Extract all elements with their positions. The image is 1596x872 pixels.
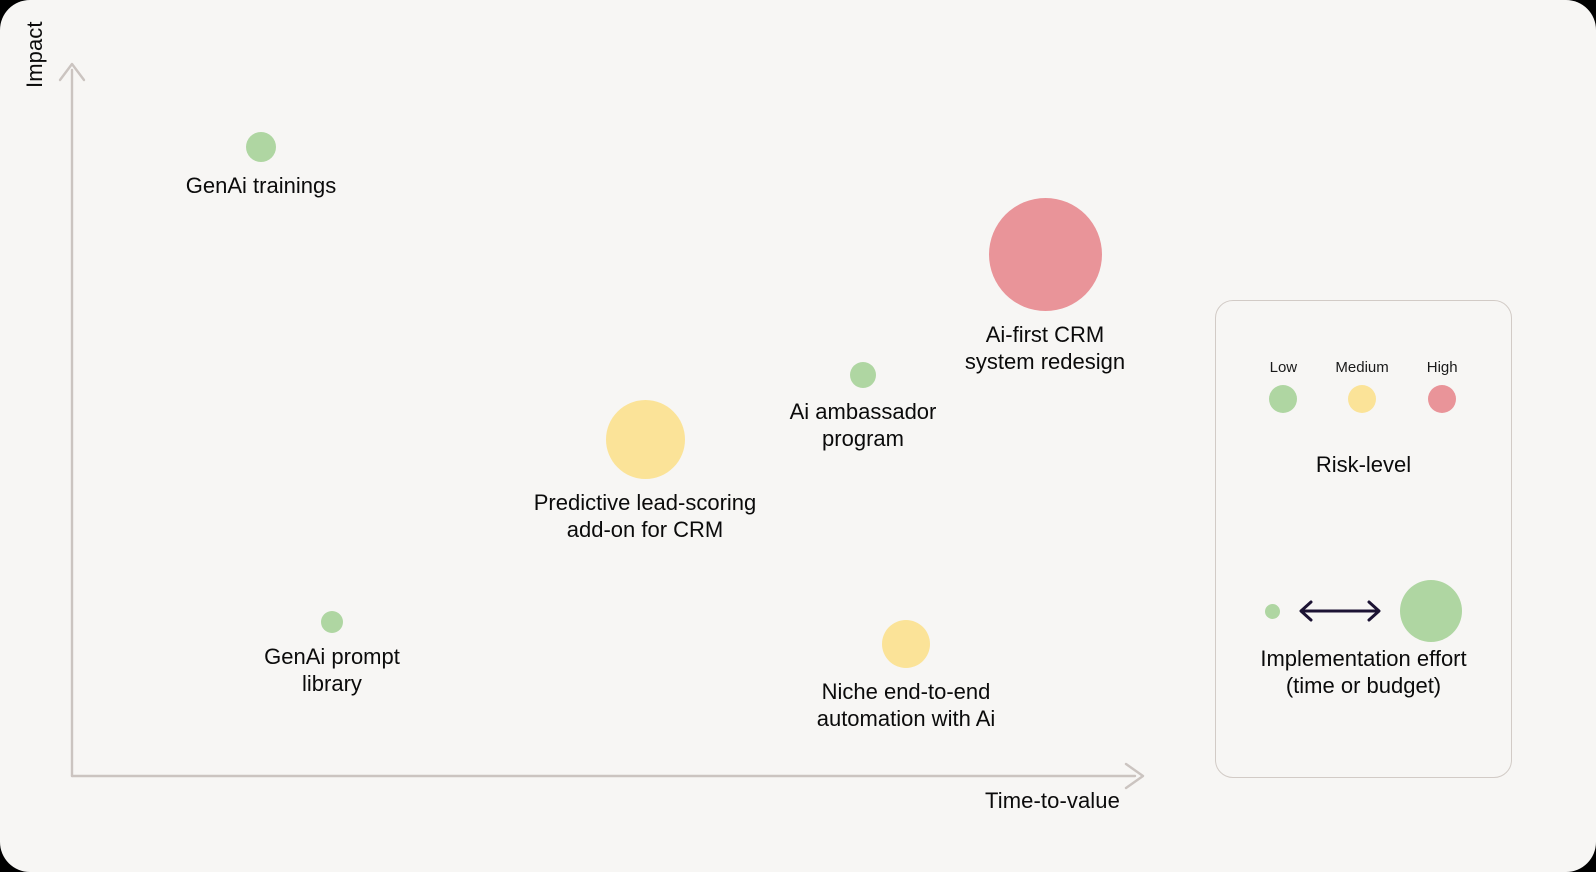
- bubble-circle[interactable]: [246, 132, 276, 162]
- bubble-ai-first-crm-system-redesign[interactable]: Ai-first CRM system redesign: [845, 198, 1245, 375]
- effort-legend-title: Implementation effort (time or budget): [1216, 645, 1511, 699]
- bubble-niche-end-to-end-automation-with-ai[interactable]: Niche end-to-end automation with Ai: [706, 620, 1106, 732]
- y-axis-label: Impact: [22, 21, 48, 88]
- bubble-label: GenAi trainings: [186, 172, 336, 199]
- x-axis-arrowhead: [1126, 764, 1143, 788]
- risk-legend-swatch-high: [1428, 385, 1456, 413]
- risk-legend-label: Medium: [1335, 359, 1388, 376]
- bubble-circle[interactable]: [989, 198, 1102, 311]
- chart-canvas: Impact Time-to-value GenAi trainings Ai-…: [0, 0, 1596, 872]
- risk-legend-item-medium[interactable]: Medium: [1335, 359, 1388, 413]
- bubble-label: Predictive lead-scoring add-on for CRM: [534, 489, 757, 543]
- risk-level-legend: Low Medium High: [1216, 359, 1511, 413]
- bubble-label: Niche end-to-end automation with Ai: [817, 678, 996, 732]
- risk-legend-swatch-low: [1269, 385, 1297, 413]
- bubble-genai-prompt-library[interactable]: GenAi prompt library: [132, 611, 532, 697]
- bubble-circle[interactable]: [850, 362, 876, 388]
- bubble-circle[interactable]: [882, 620, 930, 668]
- bubble-circle[interactable]: [606, 400, 685, 479]
- bubble-label: GenAi prompt library: [264, 643, 400, 697]
- effort-range-arrow-icon: [1294, 596, 1386, 626]
- risk-legend-item-high[interactable]: High: [1427, 359, 1458, 413]
- risk-legend-label: Low: [1270, 359, 1298, 376]
- effort-legend-small-bubble: [1265, 604, 1280, 619]
- bubble-predictive-lead-scoring-add-on-for-crm[interactable]: Predictive lead-scoring add-on for CRM: [445, 400, 845, 543]
- effort-legend: [1216, 576, 1511, 646]
- bubble-circle[interactable]: [321, 611, 343, 633]
- bubble-genai-trainings[interactable]: GenAi trainings: [61, 132, 461, 199]
- risk-legend-item-low[interactable]: Low: [1269, 359, 1297, 413]
- risk-level-legend-title: Risk-level: [1216, 451, 1511, 478]
- risk-legend-label: High: [1427, 359, 1458, 376]
- effort-legend-large-bubble: [1400, 580, 1462, 642]
- y-axis-arrowhead: [60, 64, 84, 80]
- legend-panel: Low Medium High Risk-level Implementatio…: [1215, 300, 1512, 778]
- x-axis-label: Time-to-value: [985, 788, 1120, 814]
- risk-legend-swatch-medium: [1348, 385, 1376, 413]
